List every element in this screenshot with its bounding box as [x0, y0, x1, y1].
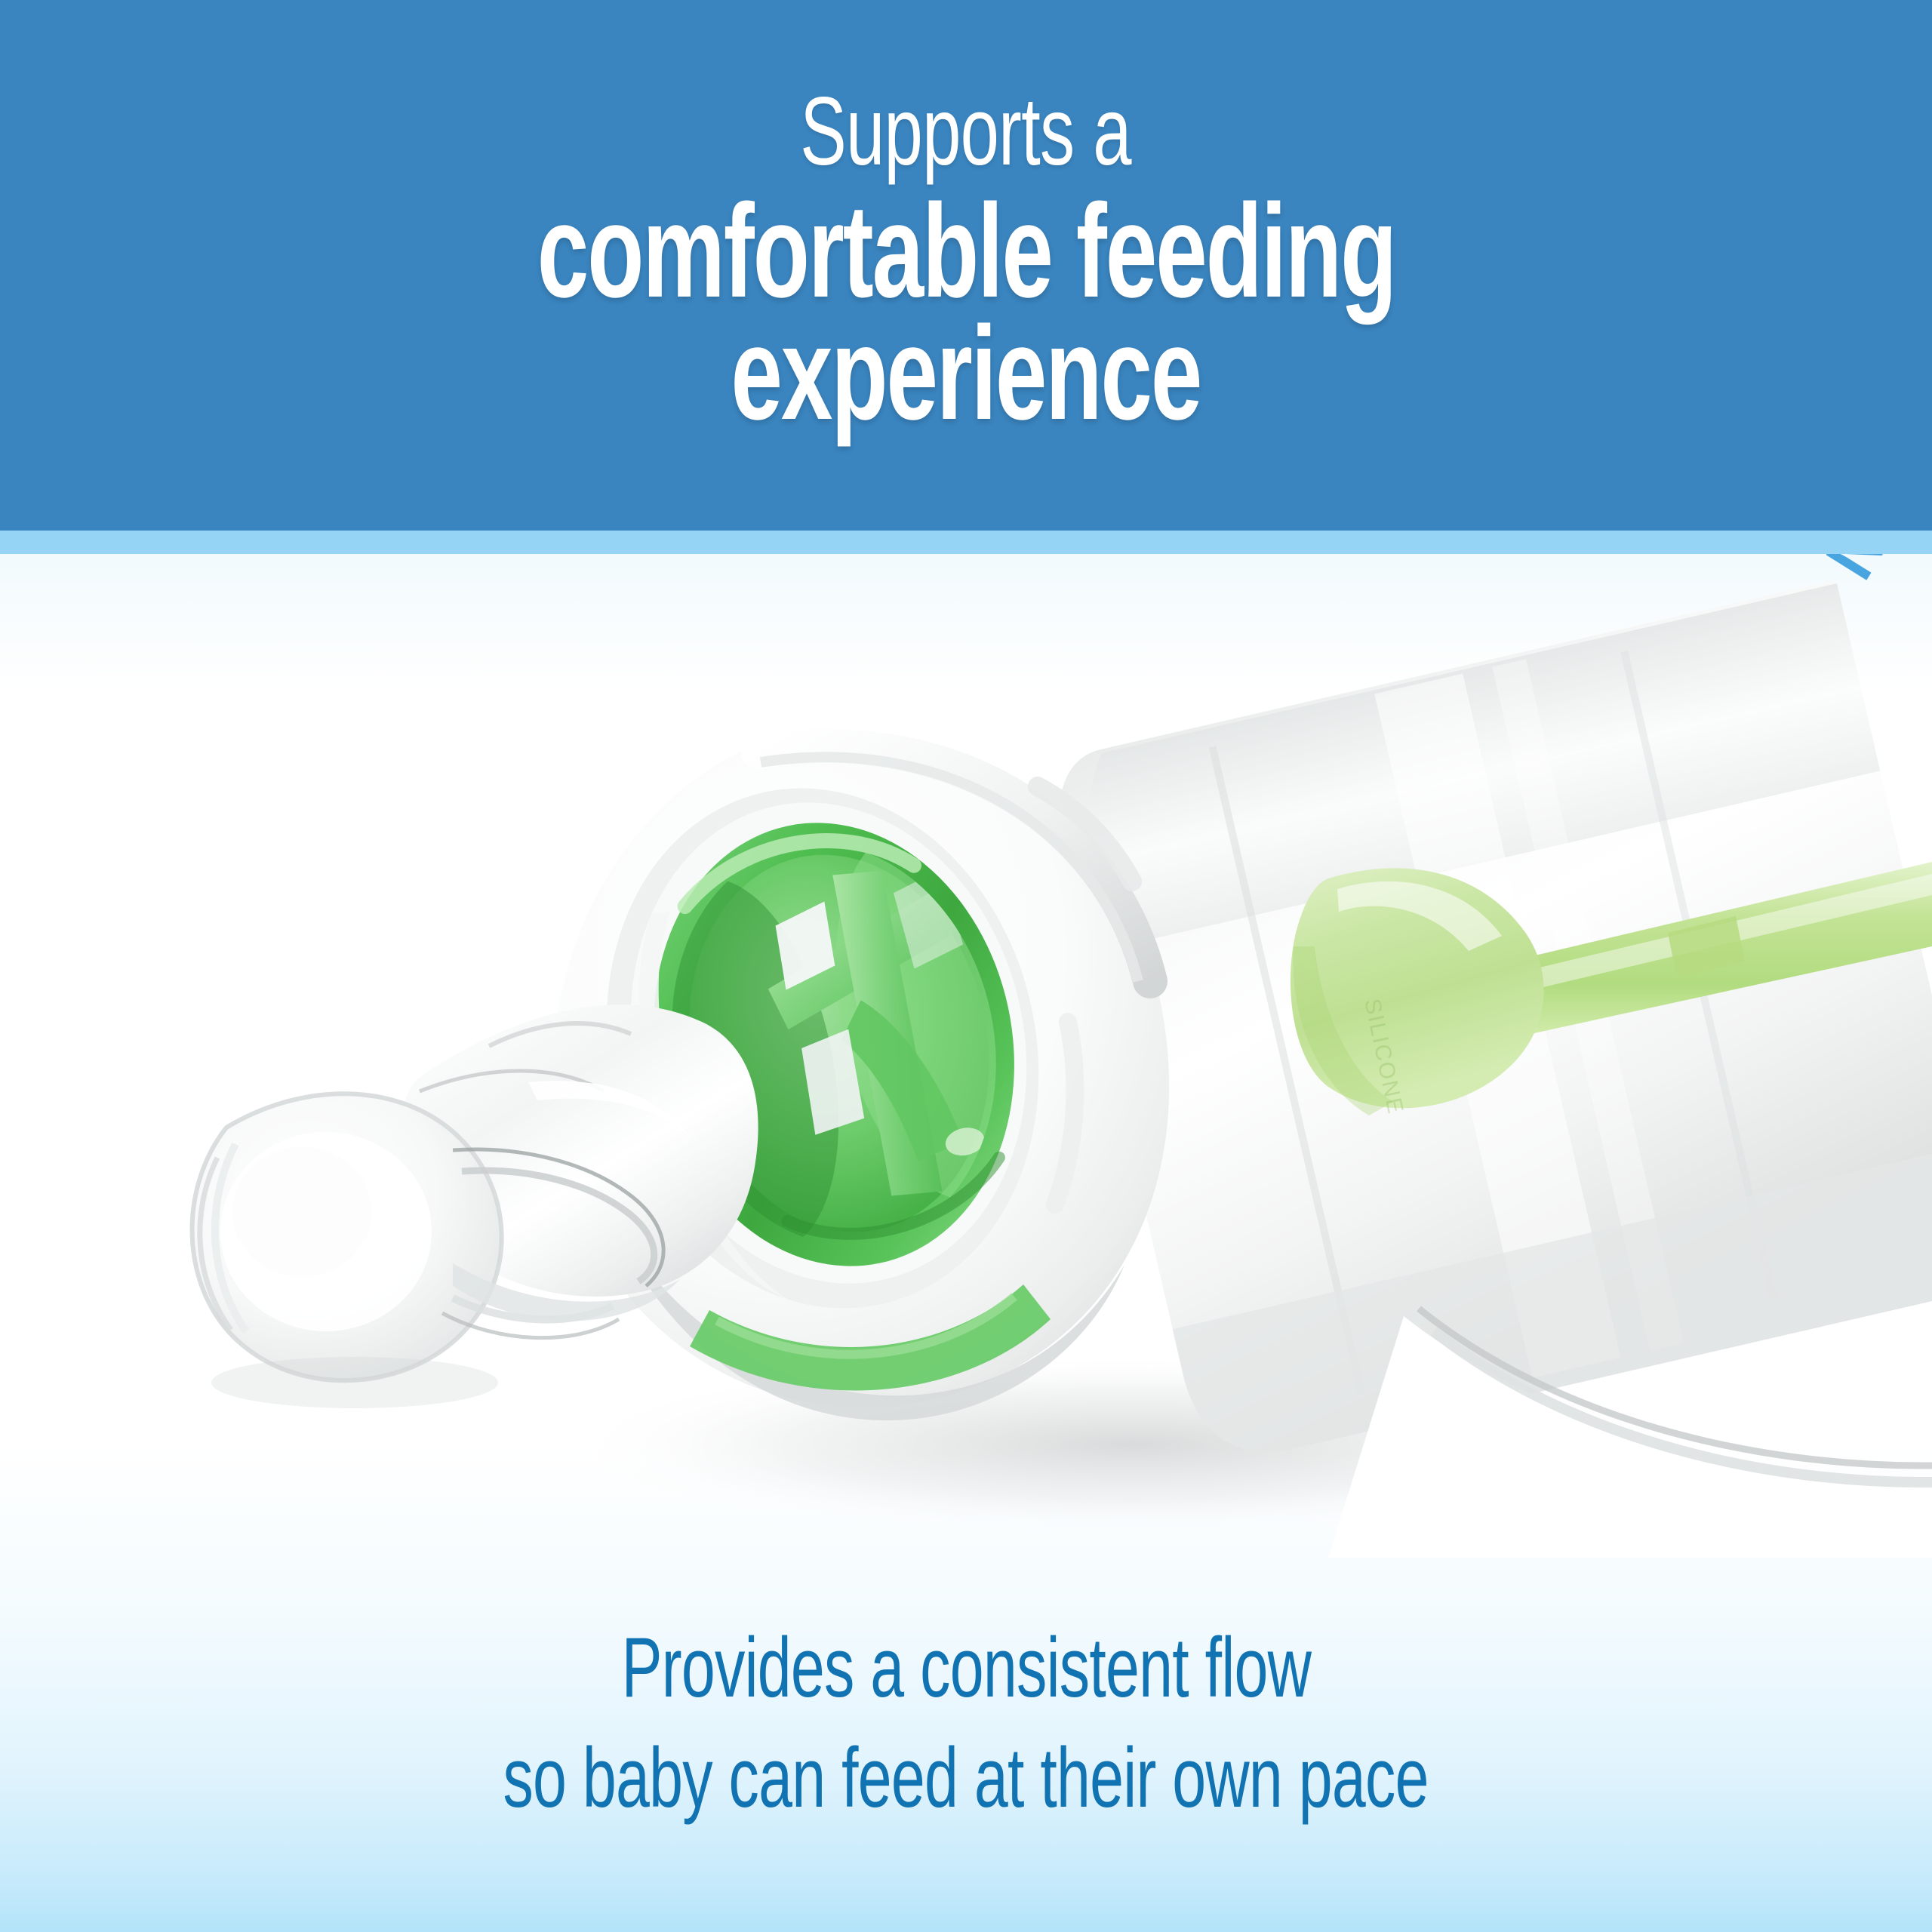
product-stage: NT SILICO [0, 554, 1932, 1932]
product-feature-poster: Supports a comfortable feeding experienc… [0, 0, 1932, 1932]
headline-line-2: comfortable feeding [537, 185, 1395, 318]
divider-strip [0, 531, 1932, 554]
headline-line-3: experience [731, 307, 1201, 440]
caption-block: Provides a consistent flow so baby can f… [0, 1626, 1932, 1820]
headline-line-1: Supports a [801, 83, 1132, 182]
header-banner: Supports a comfortable feeding experienc… [0, 0, 1932, 531]
caption-line-1: Provides a consistent flow [621, 1626, 1311, 1710]
bottle-illustration: NT SILICO [0, 554, 1932, 1558]
product-photo: NT SILICO [0, 554, 1932, 1558]
caption-line-2: so baby can feed at their own pace [503, 1736, 1429, 1820]
